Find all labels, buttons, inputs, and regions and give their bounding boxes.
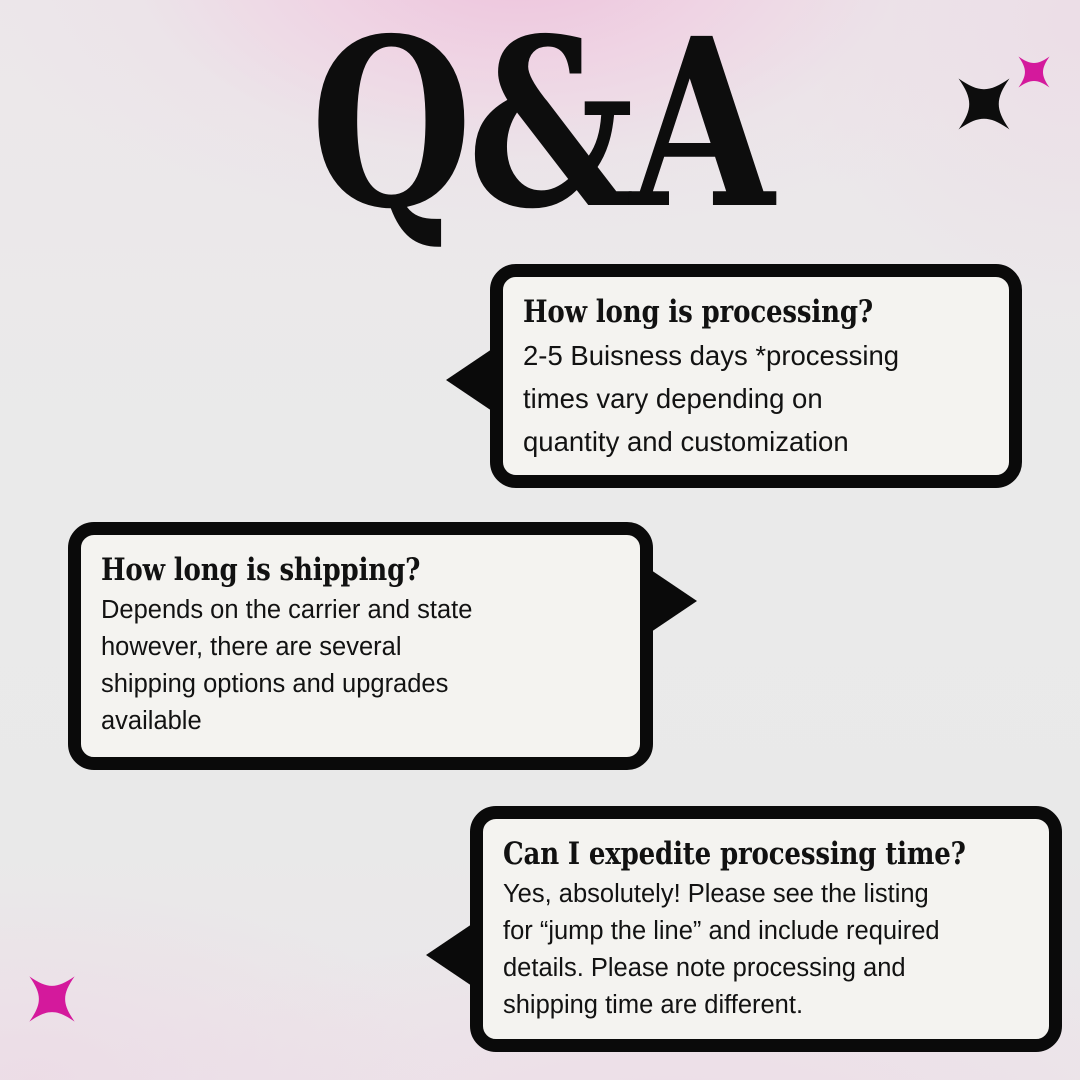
answer-line-expedite-3: details. Please note processing and — [503, 950, 1029, 987]
answer-line-shipping-1: Depends on the carrier and state — [101, 592, 620, 629]
sparkle-magenta-bottom-left — [20, 967, 84, 1031]
question-heading-processing: How long is processing? — [523, 293, 914, 331]
answer-line-expedite-4: shipping time are different. — [503, 987, 1029, 1024]
answer-line-shipping-2: however, there are several — [101, 629, 620, 666]
speech-bubble-processing: How long is processing? 2-5 Buisness day… — [490, 264, 1022, 488]
answer-line-shipping-3: shipping options and upgrades — [101, 666, 620, 703]
question-heading-shipping: How long is shipping? — [101, 551, 537, 589]
bubble-content-expedite: Can I expedite processing time? Yes, abs… — [483, 819, 1049, 1042]
answer-line-expedite-1: Yes, absolutely! Please see the listing — [503, 876, 1029, 913]
bubble-tail-left-icon — [446, 349, 492, 411]
answer-line-processing-2: times vary depending on — [523, 377, 989, 420]
sparkle-black-top-right — [948, 68, 1020, 140]
speech-bubble-expedite: Can I expedite processing time? Yes, abs… — [470, 806, 1062, 1052]
bubble-content-processing: How long is processing? 2-5 Buisness day… — [503, 277, 1009, 481]
bubble-tail-right-icon — [651, 570, 697, 632]
page-title: Q&A — [108, 6, 972, 243]
answer-line-shipping-4: available — [101, 703, 620, 740]
answer-line-processing-1: 2-5 Buisness days *processing — [523, 334, 989, 377]
answer-line-processing-3: quantity and customization — [523, 420, 989, 463]
answer-line-expedite-2: for “jump the line” and include required — [503, 913, 1029, 950]
sparkle-magenta-top-right — [1012, 50, 1056, 94]
bubble-content-shipping: How long is shipping? Depends on the car… — [81, 535, 640, 758]
qa-graphic-canvas: Q&A How long is processing? 2-5 Buisness… — [0, 0, 1080, 1080]
speech-bubble-shipping: How long is shipping? Depends on the car… — [68, 522, 653, 770]
bubble-tail-left-icon — [426, 924, 472, 986]
question-heading-expedite: Can I expedite processing time? — [503, 835, 945, 873]
